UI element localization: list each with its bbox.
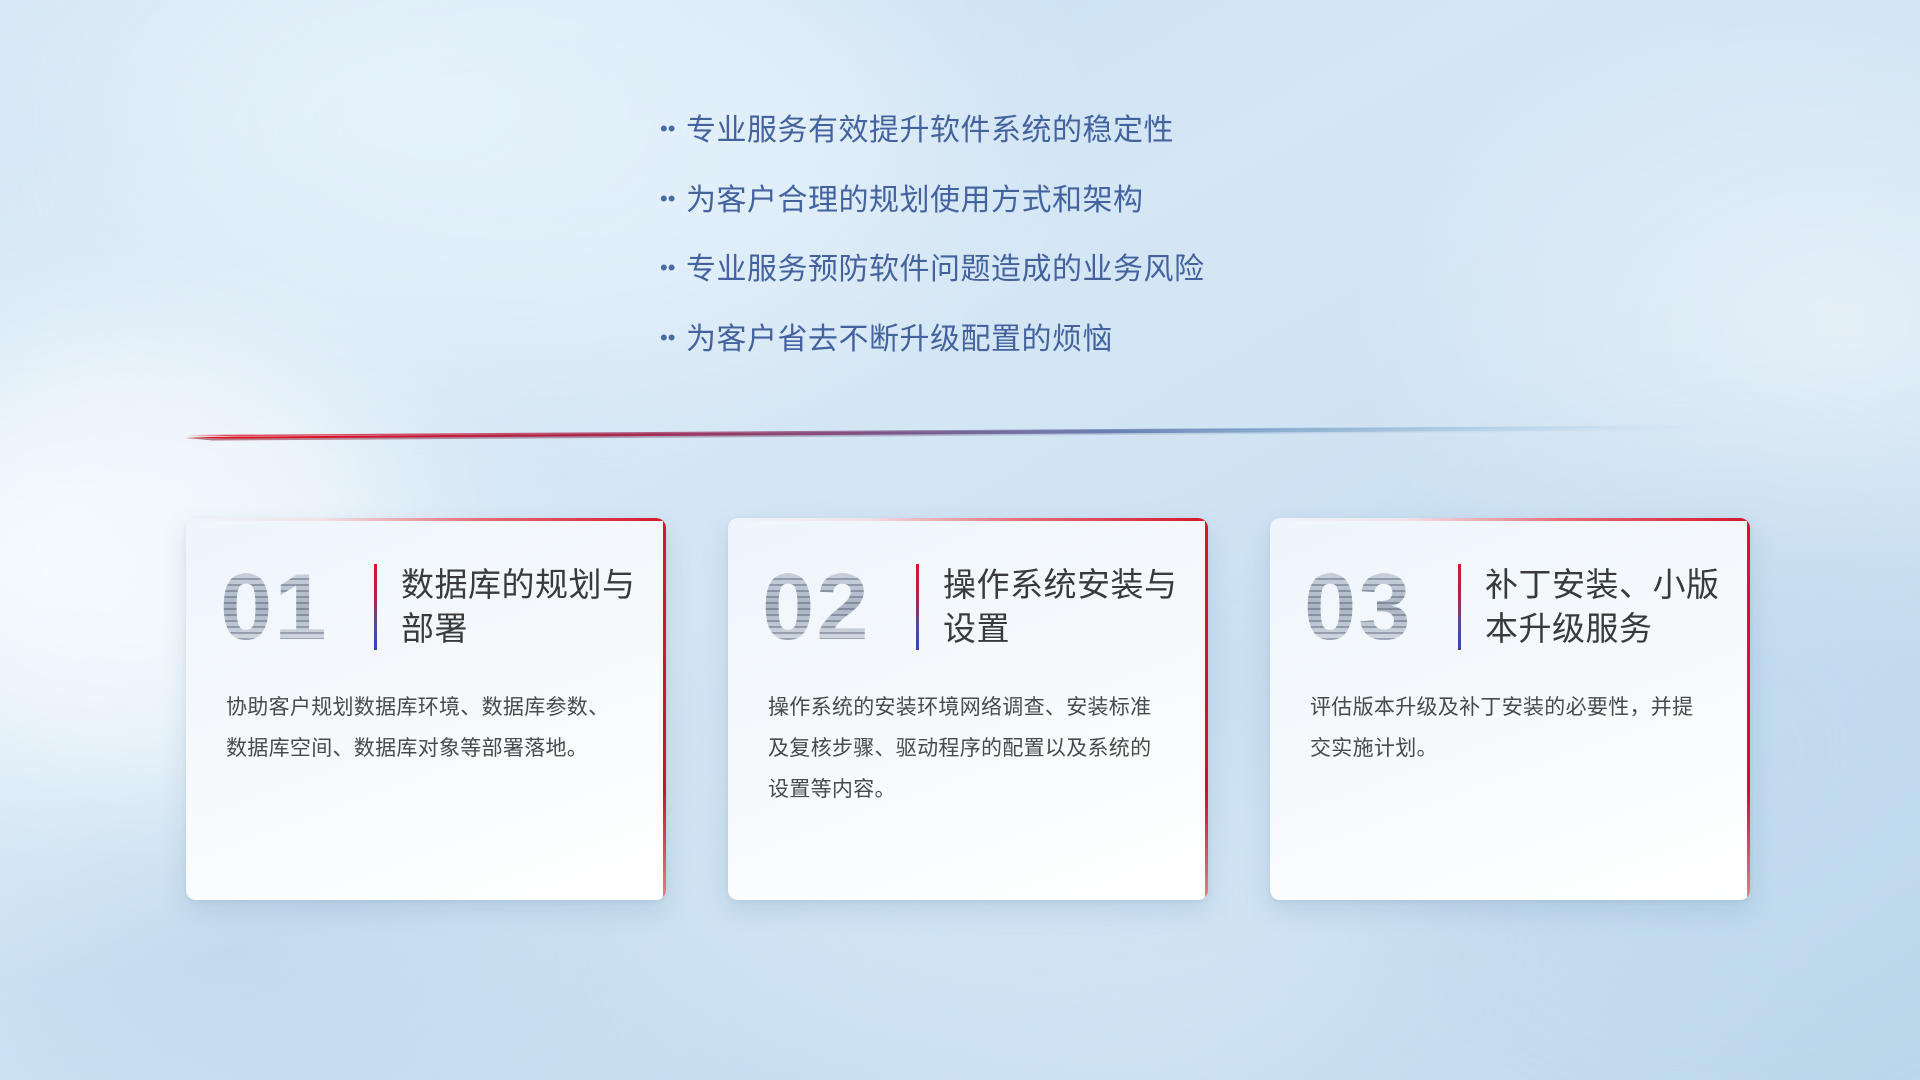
- bullet-text: 为客户合理的规划使用方式和架构: [686, 182, 1144, 220]
- card-03[interactable]: 03 补丁安装、小版本升级服务 评估版本升级及补丁安装的必要性，并提交实施计划。: [1270, 518, 1750, 900]
- card-right-accent: [1205, 518, 1208, 900]
- card-header: 03 补丁安装、小版本升级服务: [1270, 518, 1750, 666]
- card-top-accent: [1270, 518, 1750, 521]
- bullet-text: 专业服务预防软件问题造成的业务风险: [686, 251, 1205, 289]
- card-header: 02 操作系统安装与设置: [728, 518, 1208, 666]
- card-number: 03: [1304, 560, 1452, 654]
- card-02[interactable]: 02 操作系统安装与设置 操作系统的安装环境网络调查、安装标准及复核步骤、驱动程…: [728, 518, 1208, 900]
- card-body-text: 操作系统的安装环境网络调查、安装标准及复核步骤、驱动程序的配置以及系统的设置等内…: [728, 666, 1208, 811]
- list-item: • 专业服务预防软件问题造成的业务风险: [660, 251, 1460, 289]
- bullet-marker-icon: •: [660, 327, 686, 349]
- list-item: • 为客户省去不断升级配置的烦恼: [660, 321, 1460, 359]
- card-title: 补丁安装、小版本升级服务: [1485, 563, 1720, 650]
- card-divider-rule: [1458, 564, 1461, 650]
- card-row: 01 数据库的规划与部署 协助客户规划数据库环境、数据库参数、数据库空间、数据库…: [186, 518, 1750, 900]
- card-01[interactable]: 01 数据库的规划与部署 协助客户规划数据库环境、数据库参数、数据库空间、数据库…: [186, 518, 666, 900]
- card-top-accent: [186, 518, 666, 521]
- bullet-text: 为客户省去不断升级配置的烦恼: [686, 321, 1113, 359]
- card-title: 数据库的规划与部署: [401, 563, 636, 650]
- list-item: • 专业服务有效提升软件系统的稳定性: [660, 112, 1460, 150]
- slide-canvas: • 专业服务有效提升软件系统的稳定性 • 为客户合理的规划使用方式和架构 • 专…: [0, 0, 1920, 1080]
- divider-shape-icon: [185, 424, 1750, 442]
- card-right-accent: [1747, 518, 1750, 900]
- card-header: 01 数据库的规划与部署: [186, 518, 666, 666]
- bullet-list: • 专业服务有效提升软件系统的稳定性 • 为客户合理的规划使用方式和架构 • 专…: [660, 112, 1460, 390]
- card-number: 01: [220, 560, 368, 654]
- bullet-marker-icon: •: [660, 188, 686, 210]
- card-body-text: 评估版本升级及补丁安装的必要性，并提交实施计划。: [1270, 666, 1750, 770]
- card-divider-rule: [916, 564, 919, 650]
- bullet-marker-icon: •: [660, 257, 686, 279]
- list-item: • 为客户合理的规划使用方式和架构: [660, 182, 1460, 220]
- card-top-accent: [728, 518, 1208, 521]
- card-divider-rule: [374, 564, 377, 650]
- card-number: 02: [762, 560, 910, 654]
- section-divider: [185, 424, 1750, 442]
- bullet-marker-icon: •: [660, 118, 686, 140]
- bullet-text: 专业服务有效提升软件系统的稳定性: [686, 112, 1174, 150]
- card-right-accent: [663, 518, 666, 900]
- card-body-text: 协助客户规划数据库环境、数据库参数、数据库空间、数据库对象等部署落地。: [186, 666, 666, 770]
- card-title: 操作系统安装与设置: [943, 563, 1178, 650]
